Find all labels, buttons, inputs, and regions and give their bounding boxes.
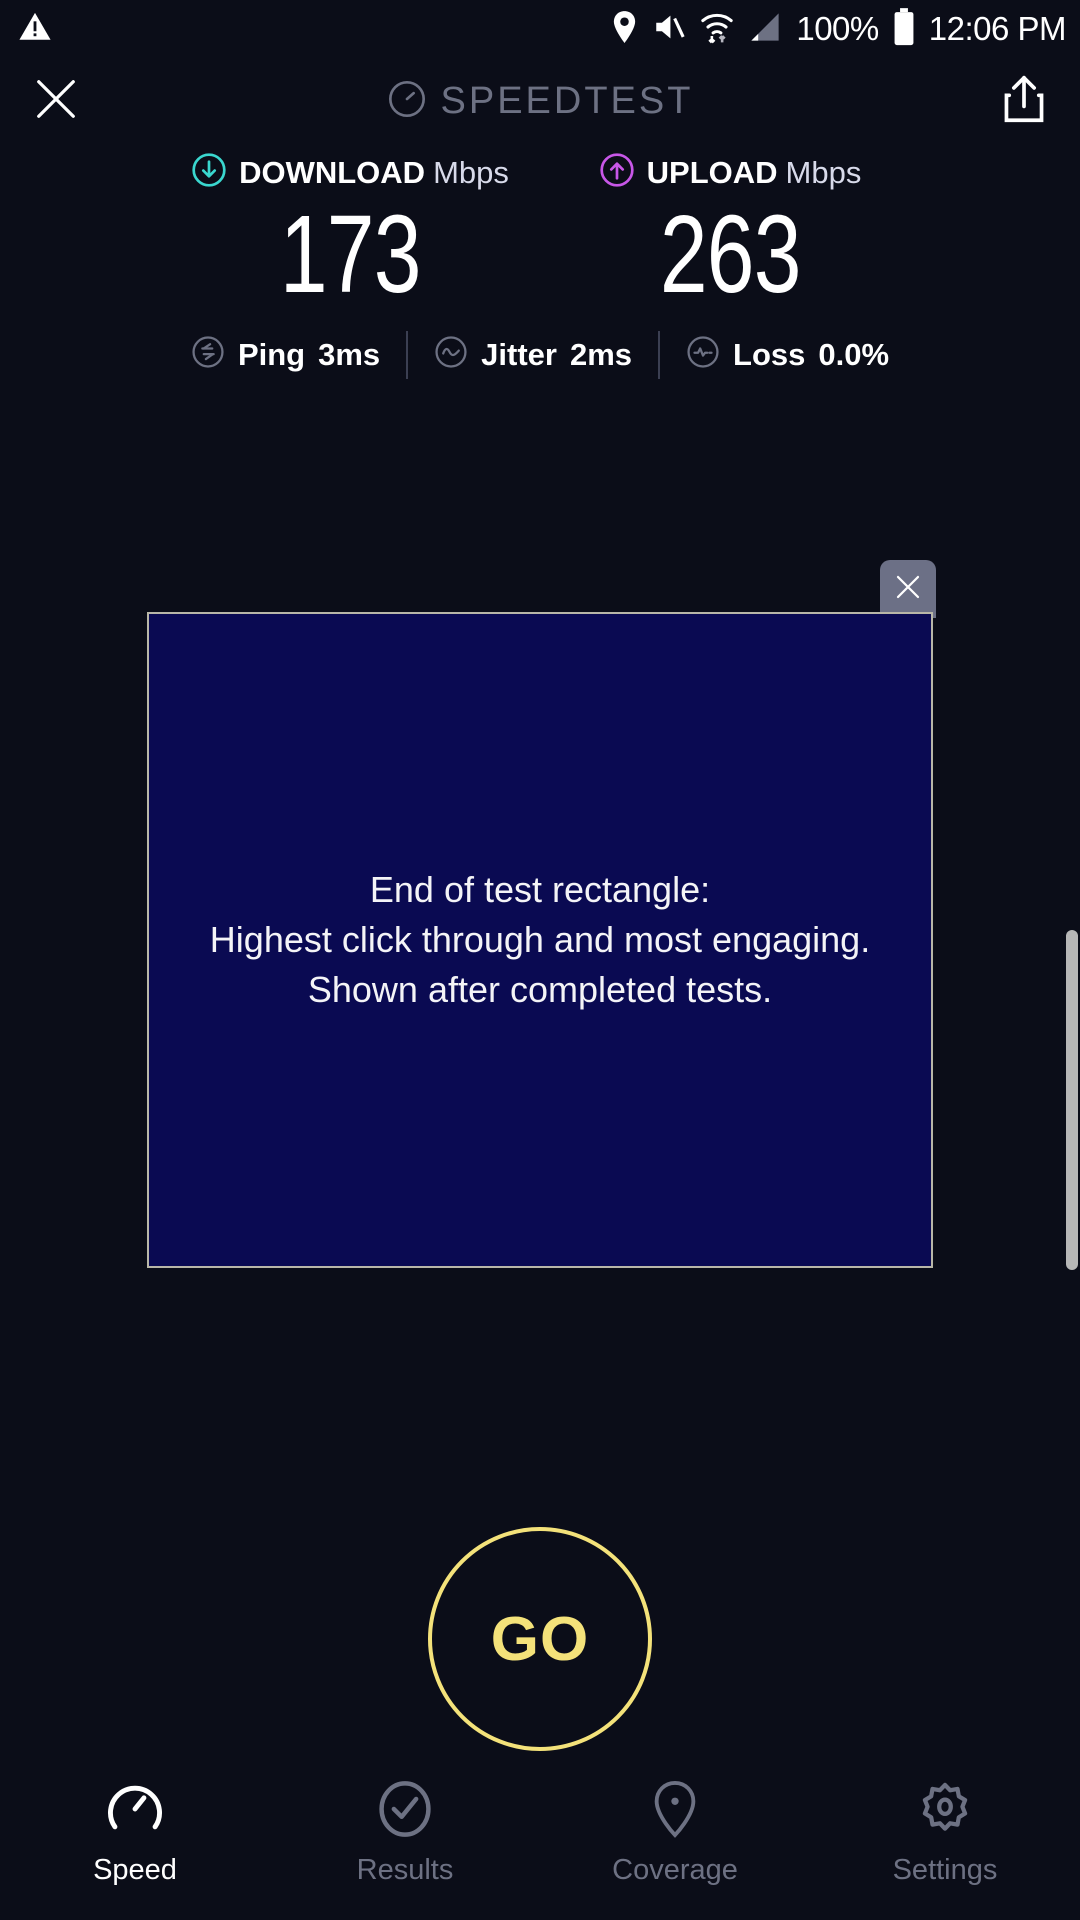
rate-row: DOWNLOAD Mbps 173 UPLOAD Mbps 263 [0, 152, 1080, 313]
nav-item-results[interactable]: Results [270, 1778, 540, 1887]
go-button-wrapper: GO [0, 1527, 1080, 1751]
upload-label: UPLOAD [647, 155, 778, 191]
arrow-up-circle-icon [599, 152, 635, 193]
metric-jitter-name: Jitter [481, 337, 557, 373]
upload-value: 263 [660, 197, 801, 313]
nav-label-results: Results [357, 1854, 454, 1887]
cellular-signal-icon [748, 12, 782, 47]
upload-result: UPLOAD Mbps 263 [540, 152, 920, 313]
go-button-label: GO [491, 1604, 589, 1675]
nav-item-coverage[interactable]: Coverage [540, 1778, 810, 1887]
upload-label-row: UPLOAD Mbps [599, 152, 862, 193]
battery-full-icon [893, 8, 915, 51]
status-bar-clock: 12:06 PM [929, 10, 1066, 48]
close-icon [893, 572, 923, 607]
speedometer-icon [387, 79, 427, 124]
location-pin-icon [646, 1778, 704, 1840]
close-icon [33, 76, 79, 127]
status-bar: 100% 12:06 PM [0, 0, 1080, 58]
metric-loss: Loss 0.0% [660, 335, 915, 374]
brand: SPEEDTEST [0, 79, 1080, 124]
status-bar-right: 100% 12:06 PM [611, 8, 1066, 51]
ad-banner[interactable]: End of test rectangle: Highest click thr… [147, 612, 933, 1268]
check-circle-icon [376, 1778, 434, 1840]
download-label-row: DOWNLOAD Mbps [191, 152, 509, 193]
nav-item-speed[interactable]: Speed [0, 1778, 270, 1887]
close-button[interactable] [26, 71, 86, 131]
bottom-navigation: Speed Results Coverage Settings [0, 1764, 1080, 1920]
metric-ping-name: Ping [238, 337, 305, 373]
warning-triangle-icon [18, 10, 52, 49]
metric-jitter-value: 2ms [570, 337, 632, 373]
status-bar-left [18, 10, 52, 49]
download-value: 173 [280, 197, 421, 313]
speedometer-icon [106, 1778, 164, 1840]
nav-item-settings[interactable]: Settings [810, 1778, 1080, 1887]
download-label: DOWNLOAD [239, 155, 425, 191]
jitter-icon [434, 335, 468, 374]
gear-icon [916, 1778, 974, 1840]
share-button[interactable] [994, 71, 1054, 131]
scrollbar[interactable] [1066, 930, 1078, 1270]
metrics-row: Ping 3ms Jitter 2ms Loss 0.0% [0, 331, 1080, 379]
location-pin-icon [611, 10, 638, 49]
share-icon [1002, 75, 1046, 128]
app-header: SPEEDTEST [0, 58, 1080, 144]
metric-jitter: Jitter 2ms [408, 335, 658, 374]
results-panel: DOWNLOAD Mbps 173 UPLOAD Mbps 263 Ping 3… [0, 144, 1080, 379]
upload-unit: Mbps [786, 155, 862, 191]
go-button[interactable]: GO [428, 1527, 652, 1751]
arrow-down-circle-icon [191, 152, 227, 193]
nav-label-coverage: Coverage [612, 1854, 738, 1887]
ad-close-button[interactable] [880, 560, 936, 618]
nav-label-settings: Settings [893, 1854, 998, 1887]
advertisement-zone: End of test rectangle: Highest click thr… [0, 560, 1080, 1260]
metric-ping-value: 3ms [318, 337, 380, 373]
download-unit: Mbps [433, 155, 509, 191]
brand-title: SPEEDTEST [441, 80, 694, 123]
metric-loss-value: 0.0% [818, 337, 889, 373]
ping-icon [191, 335, 225, 374]
loss-icon [686, 335, 720, 374]
mute-icon [652, 10, 686, 49]
metric-ping: Ping 3ms [165, 335, 406, 374]
nav-label-speed: Speed [93, 1854, 177, 1887]
wifi-icon [700, 9, 734, 50]
battery-percent: 100% [796, 10, 878, 48]
download-result: DOWNLOAD Mbps 173 [160, 152, 540, 313]
ad-text: End of test rectangle: Highest click thr… [210, 865, 870, 1014]
metric-loss-name: Loss [733, 337, 805, 373]
